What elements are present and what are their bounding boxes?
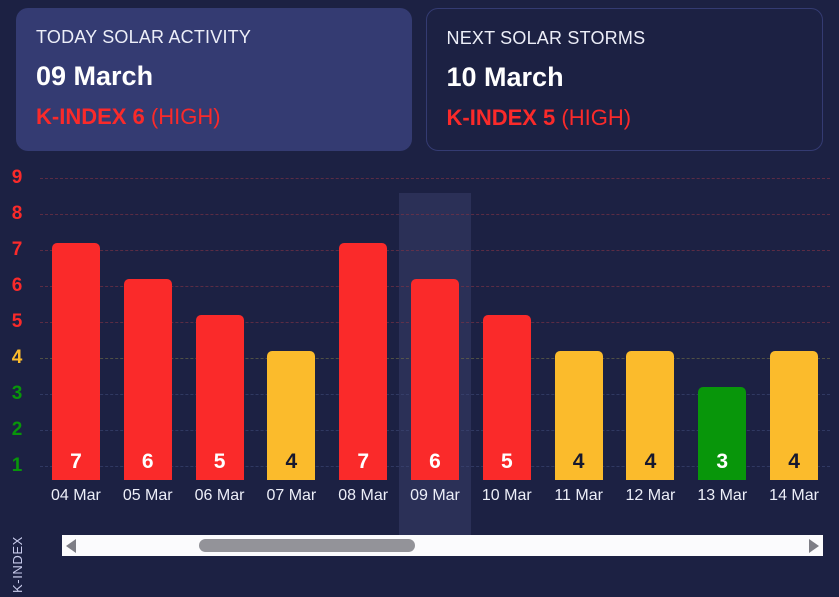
bar-value-label: 4: [555, 450, 603, 474]
y-axis-tick-label: 4: [0, 347, 34, 369]
y-axis-tick-label: 5: [0, 311, 34, 333]
x-axis-label: 09 Mar: [399, 485, 471, 507]
bar-value-label: 4: [770, 450, 818, 474]
card-kindex-level: (HIGH): [561, 105, 631, 130]
gridline: [40, 178, 830, 179]
card-date: 10 March: [447, 61, 803, 94]
card-kindex-value: K-INDEX 5: [447, 105, 556, 130]
card-kindex-line: K-INDEX 6 (HIGH): [36, 103, 392, 130]
y-axis-tick-label: 6: [0, 275, 34, 297]
card-next-solar-storms[interactable]: NEXT SOLAR STORMS 10 March K-INDEX 5 (HI…: [426, 8, 824, 151]
y-axis-tick-label: 3: [0, 383, 34, 405]
card-today-solar-activity[interactable]: TODAY SOLAR ACTIVITY 09 March K-INDEX 6 …: [16, 8, 412, 151]
kindex-bar-chart[interactable]: 987654321 76547654434 04 Mar05 Mar06 Mar…: [0, 160, 839, 597]
x-axis-labels: 04 Mar05 Mar06 Mar07 Mar08 Mar09 Mar10 M…: [40, 485, 830, 513]
y-axis-tick-label: 2: [0, 419, 34, 441]
bar-value-label: 3: [698, 450, 746, 474]
card-date: 09 March: [36, 60, 392, 93]
scrollbar-thumb[interactable]: [199, 539, 415, 552]
bar-value-label: 7: [339, 450, 387, 474]
bar-value-label: 4: [626, 450, 674, 474]
card-title: TODAY SOLAR ACTIVITY: [36, 26, 392, 48]
bar[interactable]: 5: [483, 315, 531, 480]
bar[interactable]: 5: [196, 315, 244, 480]
horizontal-scrollbar[interactable]: [62, 535, 823, 556]
scrollbar-track[interactable]: [82, 535, 803, 556]
bar[interactable]: 3: [698, 387, 746, 480]
bar[interactable]: 6: [124, 279, 172, 480]
chart-bars: 76547654434: [40, 193, 830, 480]
bar-value-label: 6: [124, 450, 172, 474]
card-kindex-value: K-INDEX 6: [36, 104, 145, 129]
bar[interactable]: 4: [770, 351, 818, 480]
scroll-right-arrow-icon[interactable]: [803, 535, 823, 556]
x-axis-label: 13 Mar: [686, 485, 758, 507]
y-axis-tick-label: 1: [0, 455, 34, 477]
x-axis-label: 05 Mar: [112, 485, 184, 507]
card-kindex-level: (HIGH): [151, 104, 221, 129]
y-axis-tick-label: 9: [0, 167, 34, 189]
y-axis-tick-label: 8: [0, 203, 34, 225]
bar[interactable]: 4: [626, 351, 674, 480]
scroll-left-arrow-icon[interactable]: [62, 535, 82, 556]
card-kindex-line: K-INDEX 5 (HIGH): [447, 104, 803, 131]
y-axis-tick-label: 7: [0, 239, 34, 261]
bar[interactable]: 7: [52, 243, 100, 480]
bar[interactable]: 4: [555, 351, 603, 480]
summary-cards: TODAY SOLAR ACTIVITY 09 March K-INDEX 6 …: [16, 8, 823, 151]
bar[interactable]: 7: [339, 243, 387, 480]
bar[interactable]: 4: [267, 351, 315, 480]
bar[interactable]: 6: [411, 279, 459, 480]
x-axis-label: 04 Mar: [40, 485, 112, 507]
x-axis-label: 12 Mar: [615, 485, 687, 507]
bar-value-label: 5: [196, 450, 244, 474]
bar-value-label: 4: [267, 450, 315, 474]
bar-value-label: 6: [411, 450, 459, 474]
x-axis-label: 10 Mar: [471, 485, 543, 507]
x-axis-label: 14 Mar: [758, 485, 830, 507]
card-title: NEXT SOLAR STORMS: [447, 27, 803, 49]
x-axis-label: 08 Mar: [327, 485, 399, 507]
x-axis-label: 11 Mar: [543, 485, 615, 507]
x-axis-label: 06 Mar: [184, 485, 256, 507]
y-axis-title: K-INDEX: [10, 517, 32, 593]
bar-value-label: 5: [483, 450, 531, 474]
bar-value-label: 7: [52, 450, 100, 474]
x-axis-label: 07 Mar: [255, 485, 327, 507]
